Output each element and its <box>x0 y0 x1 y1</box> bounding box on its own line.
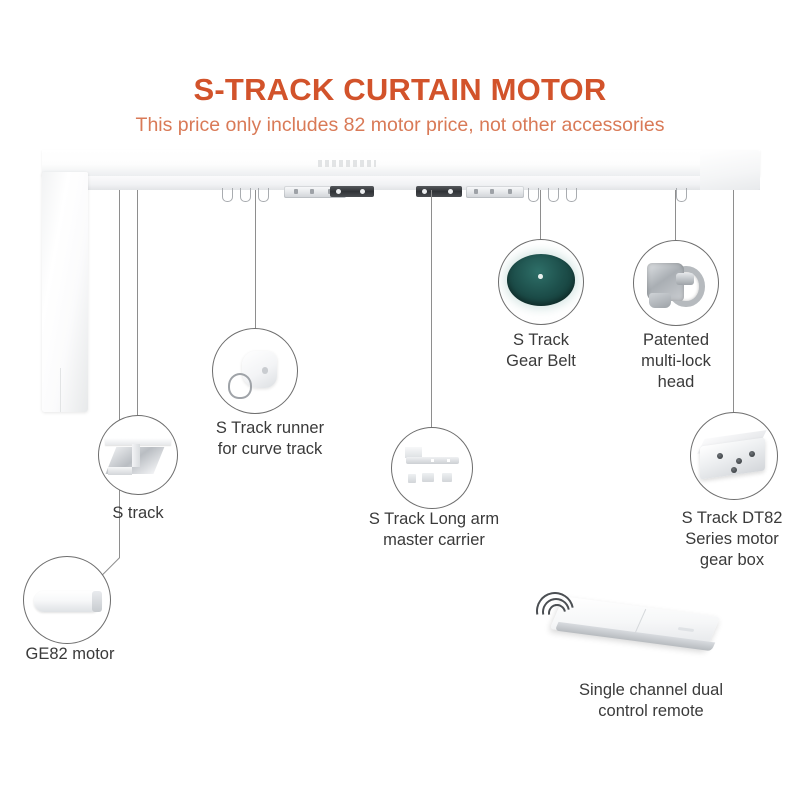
runner-icon <box>213 329 297 413</box>
track-end-cap <box>700 150 760 190</box>
multi-lock-head-icon <box>634 241 718 325</box>
callout-multi-lock-head[interactable] <box>633 240 719 326</box>
track-carrier-plate <box>466 186 524 198</box>
track-brand-mark <box>318 160 376 167</box>
label-ge82-motor: GE82 motor <box>0 644 140 665</box>
track-belt-segment <box>416 186 462 197</box>
motor-column <box>42 172 88 412</box>
track-hook <box>548 188 559 202</box>
track-hook <box>258 188 269 202</box>
label-dt82-gear-box: S Track DT82 Series motor gear box <box>652 508 800 570</box>
track-hook <box>566 188 577 202</box>
label-multi-lock-head: Patented multi-lock head <box>616 330 736 392</box>
track-hook <box>676 188 687 202</box>
callout-s-track[interactable] <box>98 415 178 495</box>
track-rail-bottom <box>88 176 760 190</box>
master-carrier-icon <box>392 428 472 508</box>
label-gear-belt: S Track Gear Belt <box>481 330 601 372</box>
leader-line-s-track <box>137 190 138 416</box>
track-belt-segment <box>330 186 374 197</box>
motor-cylinder-icon <box>24 557 110 643</box>
gear-belt-icon <box>499 240 583 324</box>
track-carrier-plate <box>284 186 346 198</box>
label-s-track-runner: S Track runner for curve track <box>180 418 360 460</box>
label-s-track: S track <box>73 503 203 524</box>
track-hook <box>222 188 233 202</box>
callout-gear-belt[interactable] <box>498 239 584 325</box>
page-subtitle: This price only includes 82 motor price,… <box>0 114 800 137</box>
callout-master-carrier[interactable] <box>391 427 473 509</box>
callout-s-track-runner[interactable] <box>212 328 298 414</box>
product-diagram-page: S-TRACK CURTAIN MOTOR This price only in… <box>0 0 800 800</box>
label-master-carrier: S Track Long arm master carrier <box>337 509 531 551</box>
track-rail-top <box>42 150 760 176</box>
track-hook <box>528 188 539 202</box>
gear-box-icon <box>691 413 777 499</box>
leader-line-runner <box>255 190 256 328</box>
leader-line-multi-lock <box>675 190 676 240</box>
leader-line-master-carrier <box>431 190 432 428</box>
callout-ge82-motor[interactable] <box>23 556 111 644</box>
page-title: S-TRACK CURTAIN MOTOR <box>0 72 800 108</box>
label-remote: Single channel dual control remote <box>536 680 766 722</box>
track-profile-icon <box>99 416 177 494</box>
leader-line-gear-belt <box>540 190 541 240</box>
callout-dt82-gear-box[interactable] <box>690 412 778 500</box>
track-hook <box>240 188 251 202</box>
